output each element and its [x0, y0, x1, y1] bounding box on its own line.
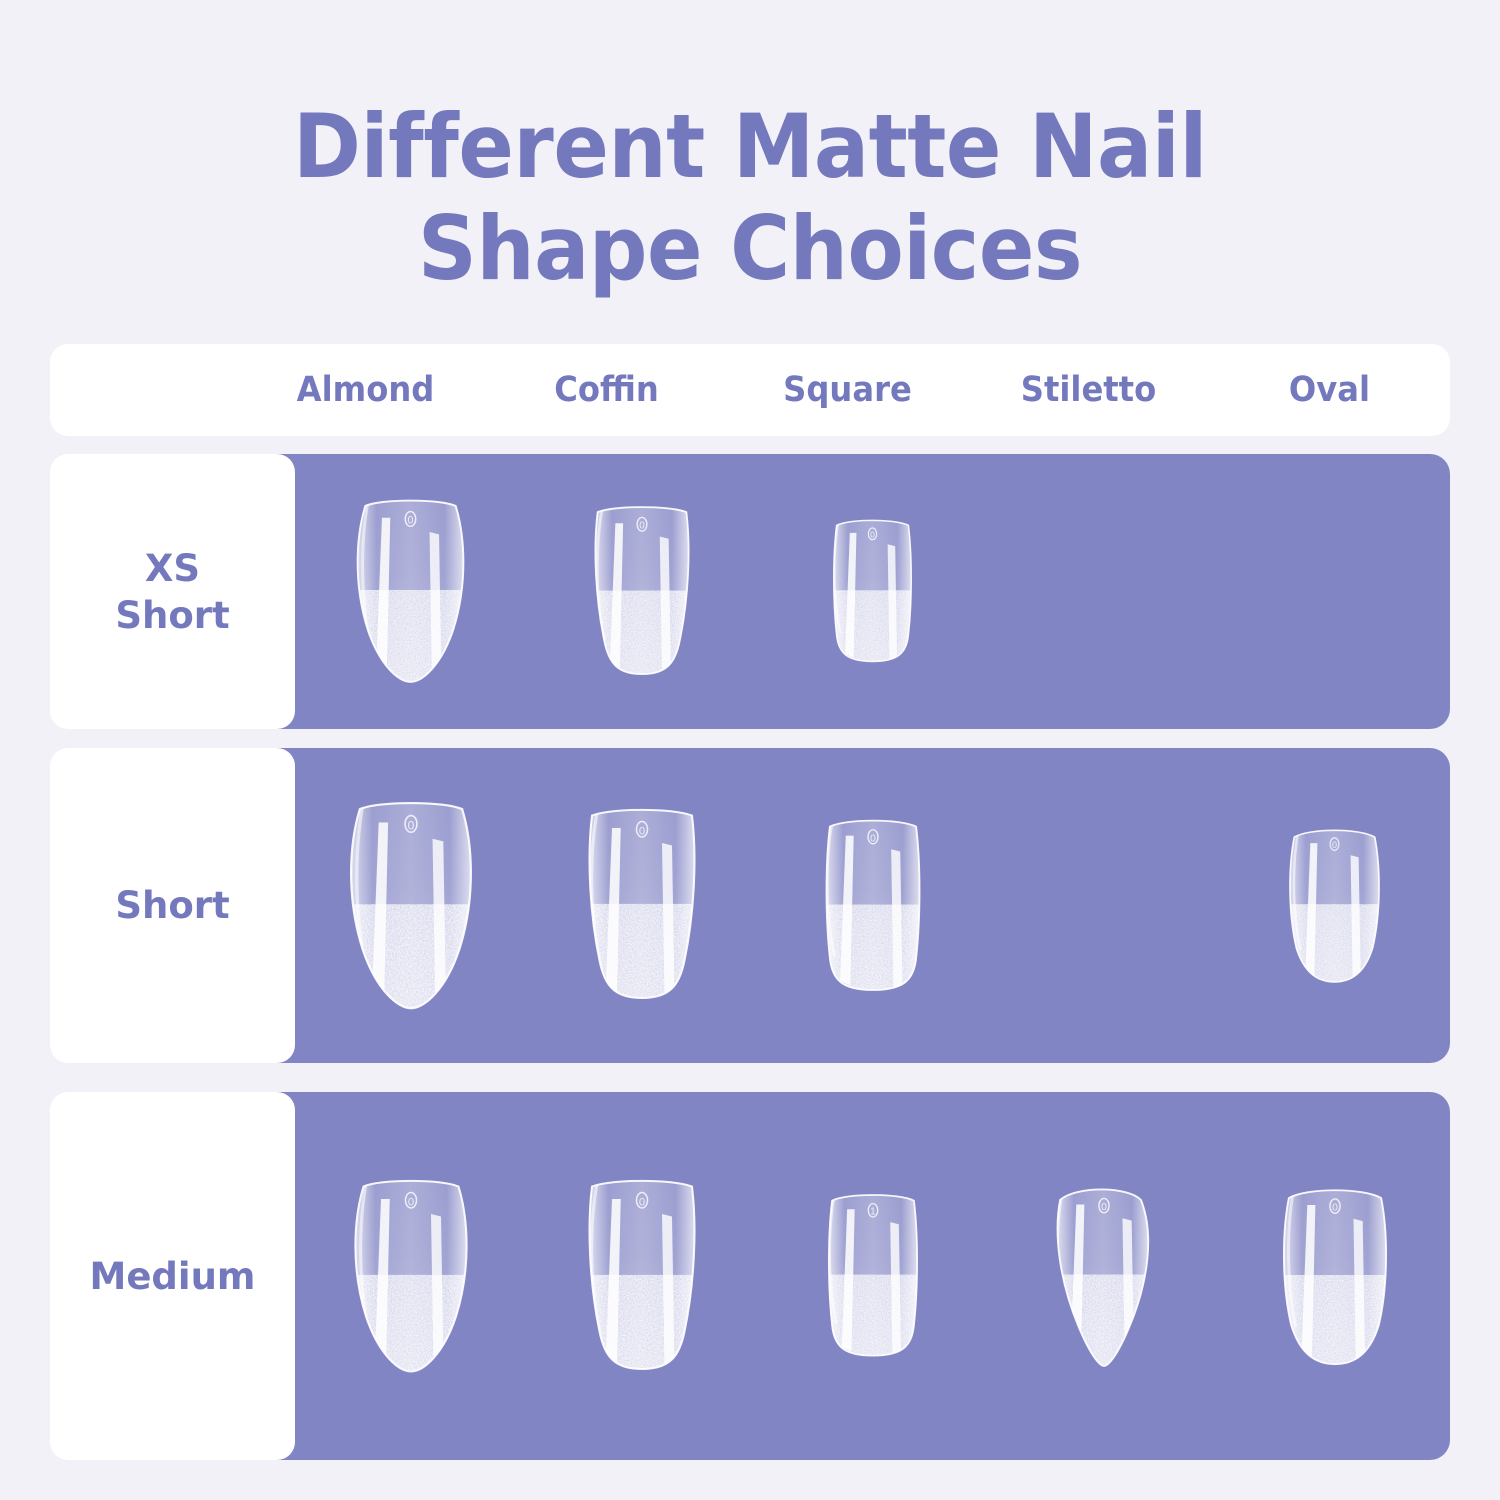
- column-header-coffin: Coffin: [496, 370, 718, 410]
- nail-tip-almond: 0: [348, 494, 473, 689]
- size-row-xs-short: XS Short: [50, 454, 1450, 729]
- nail-tip-square: 1: [817, 1141, 929, 1411]
- row-label-short: Short: [115, 882, 229, 929]
- cell-xs-oval: [1219, 454, 1450, 729]
- cell-short-oval: 0: [1219, 748, 1450, 1063]
- nail-tip-square: 0: [820, 514, 925, 669]
- column-header-square: Square: [737, 370, 959, 410]
- row-label-xs-short: XS Short: [115, 545, 229, 639]
- page-title: Different Matte Nail Shape Choices: [0, 96, 1500, 300]
- svg-text:0: 0: [1332, 1202, 1338, 1213]
- nail-tip-coffin: 0: [577, 1134, 707, 1419]
- svg-text:0: 0: [408, 515, 414, 527]
- size-row-medium: Medium: [50, 1092, 1450, 1460]
- row-label-card-xs-short: XS Short: [50, 454, 295, 729]
- cell-short-coffin: 0: [526, 748, 757, 1063]
- cell-short-stiletto: [988, 748, 1219, 1063]
- cell-medium-almond: 0: [295, 1092, 526, 1460]
- cell-xs-square: 0: [757, 454, 988, 729]
- nail-tip-oval: 0: [1282, 823, 1387, 988]
- cell-xs-almond: 0: [295, 454, 526, 729]
- svg-text:0: 0: [1332, 840, 1337, 850]
- svg-text:0: 0: [638, 825, 644, 837]
- column-header-oval: Oval: [1219, 370, 1441, 410]
- column-header-stiletto: Stiletto: [978, 370, 1200, 410]
- nail-tip-oval: 0: [1275, 1144, 1395, 1409]
- page-title-line-1: Different Matte Nail: [53, 96, 1448, 198]
- cell-medium-oval: 0: [1219, 1092, 1450, 1460]
- nail-tip-coffin: 0: [577, 793, 707, 1018]
- svg-text:0: 0: [638, 1196, 644, 1208]
- cell-medium-coffin: 0: [526, 1092, 757, 1460]
- cell-medium-square: 1: [757, 1092, 988, 1460]
- row-label-card-short: Short: [50, 748, 295, 1063]
- svg-text:0: 0: [407, 818, 414, 832]
- nail-tip-stiletto: 0: [1044, 1126, 1164, 1426]
- row-cells: 0: [245, 454, 1450, 729]
- nail-tip-almond: 0: [341, 786, 481, 1026]
- nail-tip-coffin: 0: [583, 501, 701, 683]
- cell-short-square: 0: [757, 748, 988, 1063]
- svg-text:0: 0: [1101, 1202, 1107, 1213]
- nail-tip-almond: 0: [346, 1134, 476, 1419]
- svg-text:0: 0: [870, 833, 876, 844]
- cell-short-almond: 0: [295, 748, 526, 1063]
- svg-text:0: 0: [870, 530, 875, 540]
- column-header-almond: Almond: [255, 370, 477, 410]
- row-label-card-medium: Medium: [50, 1092, 295, 1460]
- svg-text:0: 0: [639, 520, 645, 531]
- column-header-row: Almond Coffin Square Stiletto Oval: [245, 344, 1450, 436]
- cell-xs-stiletto: [988, 454, 1219, 729]
- svg-text:0: 0: [407, 1196, 413, 1208]
- page-title-line-2: Shape Choices: [53, 198, 1448, 300]
- row-cells: 0: [245, 1092, 1450, 1460]
- nail-tip-square: 0: [814, 801, 932, 1011]
- cell-medium-stiletto: 0: [988, 1092, 1219, 1460]
- row-cells: 0: [245, 748, 1450, 1063]
- row-label-medium: Medium: [90, 1253, 256, 1300]
- size-row-short: Short: [50, 748, 1450, 1063]
- svg-text:1: 1: [870, 1207, 875, 1218]
- cell-xs-coffin: 0: [526, 454, 757, 729]
